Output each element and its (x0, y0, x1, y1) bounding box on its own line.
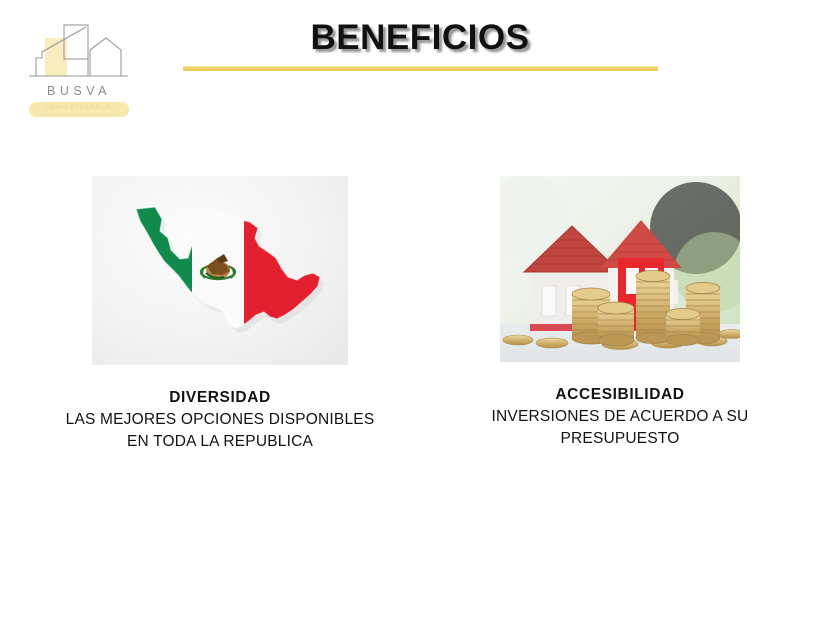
title-underline-rule (183, 66, 658, 71)
benefit-caption-accesibilidad: ACCESIBILIDAD INVERSIONES DE ACUERDO A S… (455, 384, 785, 450)
brand-logo: BUSVA INMOBILIARIA (24, 22, 134, 122)
benefit-heading: DIVERSIDAD (22, 387, 418, 409)
page-title: BENEFICIOS (180, 18, 660, 58)
building-outline-icon (24, 22, 134, 86)
house-coins-photo (500, 176, 740, 362)
logo-tagline: INMOBILIARIA (29, 104, 129, 111)
benefit-column-accesibilidad: ACCESIBILIDAD INVERSIONES DE ACUERDO A S… (455, 176, 785, 450)
logo-tagline-band: INMOBILIARIA (29, 102, 129, 117)
benefit-body-line-2: PRESUPUESTO (455, 428, 785, 450)
logo-wordmark: BUSVA (24, 84, 134, 98)
benefit-caption-diversidad: DIVERSIDAD LAS MEJORES OPCIONES DISPONIB… (22, 387, 418, 453)
benefit-body-line-1: LAS MEJORES OPCIONES DISPONIBLES (22, 409, 418, 431)
benefit-heading: ACCESIBILIDAD (455, 384, 785, 406)
benefit-body-line-1: INVERSIONES DE ACUERDO A SU (455, 406, 785, 428)
benefit-body-line-2: EN TODA LA REPUBLICA (22, 431, 418, 453)
mexico-map-flag-photo (92, 176, 348, 365)
benefit-column-diversidad: DIVERSIDAD LAS MEJORES OPCIONES DISPONIB… (22, 176, 418, 453)
